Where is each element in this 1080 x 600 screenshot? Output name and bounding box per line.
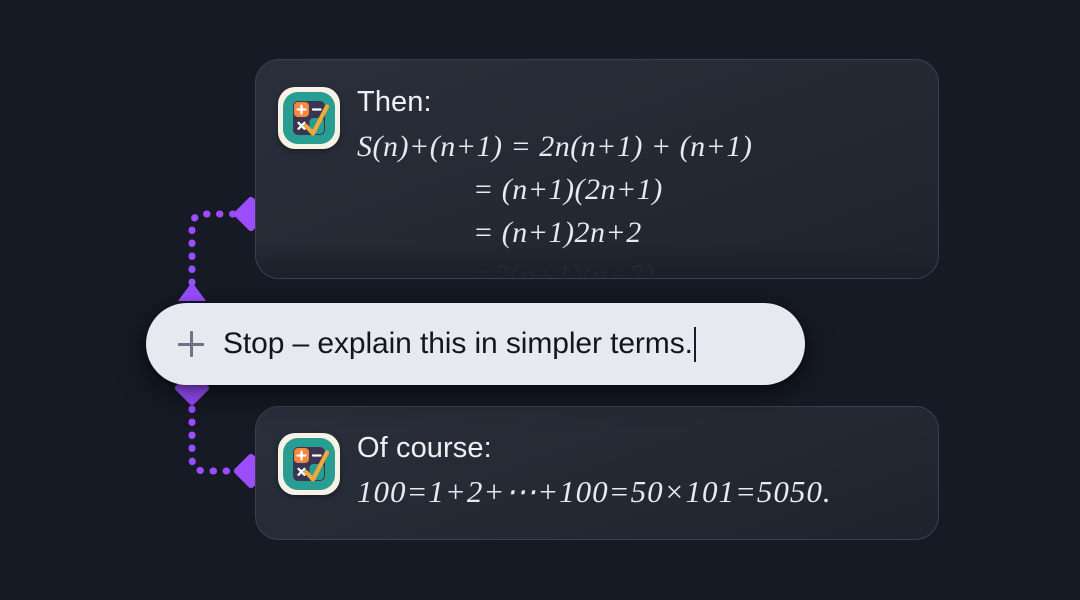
message-body: Then: S(n)+(n+1) = 2n(n+1) + (n+1) = (n+… bbox=[357, 87, 752, 279]
text-cursor bbox=[694, 327, 696, 362]
app-canvas: Then: S(n)+(n+1) = 2n(n+1) + (n+1) = (n+… bbox=[0, 0, 1080, 600]
message-body: Of course: 100=1+2+⋯+100=50×101=5050. bbox=[357, 433, 832, 513]
message-title: Then: bbox=[357, 88, 752, 117]
connector-path-upper bbox=[192, 214, 246, 286]
math-line: S(n)+(n+1) = 2n(n+1) + (n+1) bbox=[357, 125, 752, 168]
math-block: S(n)+(n+1) = 2n(n+1) + (n+1) = (n+1)(2n+… bbox=[357, 125, 752, 279]
marker-triangle-into-input[interactable] bbox=[178, 282, 206, 301]
chat-input-bar[interactable]: Stop – explain this in simpler terms. bbox=[146, 303, 805, 385]
calculator-app-icon bbox=[278, 87, 340, 149]
chat-input-field[interactable]: Stop – explain this in simpler terms. bbox=[223, 327, 775, 362]
calculator-app-icon bbox=[278, 433, 340, 495]
math-line: = (n+1)(2n+1) bbox=[357, 168, 752, 211]
math-line: = (n+1)2n+2 bbox=[357, 211, 752, 254]
message-title: Of course: bbox=[357, 434, 832, 463]
plus-icon[interactable] bbox=[178, 331, 204, 357]
chat-input-value: Stop – explain this in simpler terms. bbox=[223, 327, 693, 361]
connector-path-lower bbox=[192, 396, 246, 471]
assistant-message-card-top[interactable]: Then: S(n)+(n+1) = 2n(n+1) + (n+1) = (n+… bbox=[255, 59, 939, 279]
message-content: Of course: 100=1+2+⋯+100=50×101=5050. bbox=[256, 407, 938, 513]
message-content: Then: S(n)+(n+1) = 2n(n+1) + (n+1) = (n+… bbox=[256, 60, 938, 279]
math-line: 100=1+2+⋯+100=50×101=5050. bbox=[357, 471, 832, 513]
assistant-message-card-bottom[interactable]: Of course: 100=1+2+⋯+100=50×101=5050. bbox=[255, 406, 939, 540]
math-line: =2(n+1)(n+2) bbox=[357, 254, 752, 279]
